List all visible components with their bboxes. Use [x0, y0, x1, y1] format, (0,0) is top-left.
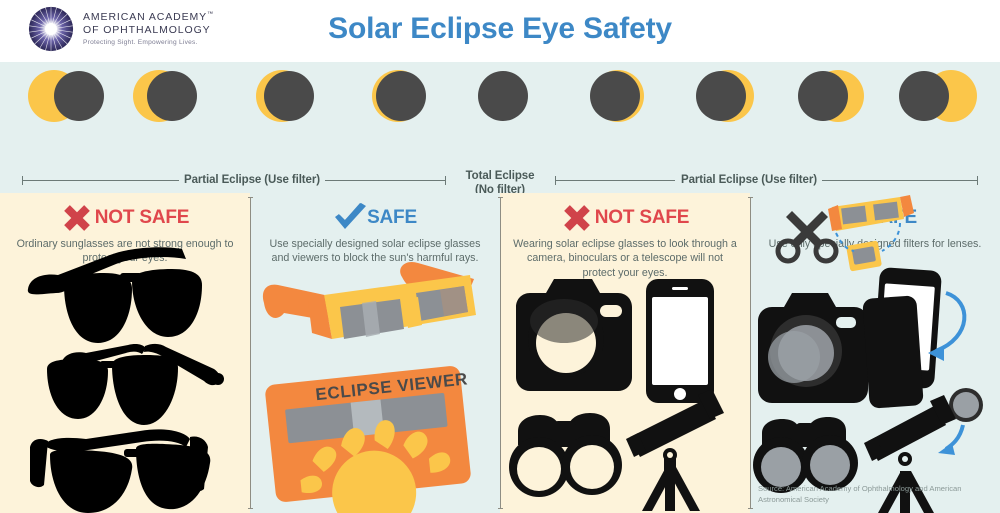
eclipse-phase-partial-8 [925, 70, 981, 126]
source-credit: Source: American Academy of Ophthalmolog… [758, 484, 988, 505]
aviator-sunglasses [47, 344, 224, 425]
filters-illustration [750, 193, 1000, 513]
moon-disc [478, 71, 528, 121]
moon-disc [696, 71, 746, 121]
scale-segment-left-b [325, 180, 445, 181]
camera-icon [516, 279, 632, 391]
eclipse-phase-partial-1 [28, 70, 84, 126]
scale-segment-right-a [555, 180, 675, 181]
binoculars-icon [753, 417, 858, 493]
eclipse-phase-band: Partial Eclipse (Use filter) Total Eclip… [0, 62, 1000, 193]
eclipse-glasses-illustration: ECLIPSE VIEWER [250, 193, 500, 513]
cateye-sunglasses [30, 429, 210, 513]
devices-illustration [500, 193, 750, 513]
camera-icon [758, 293, 868, 403]
moon-disc [264, 71, 314, 121]
filter-patch-icon [846, 240, 882, 271]
moon-disc [376, 71, 426, 121]
eclipse-phase-partial-5 [592, 70, 648, 126]
scissors-icon [778, 211, 836, 261]
eclipse-phase-row [0, 70, 1000, 132]
label-partial-eclipse-right: Partial Eclipse (Use filter) [676, 174, 822, 186]
page-header: AMERICAN ACADEMY™ OF OPHTHALMOLOGY Prote… [0, 0, 1000, 62]
panel-lens-filters: SAFE Use only specially designed filters… [750, 193, 1000, 513]
label-partial-eclipse-left: Partial Eclipse (Use filter) [179, 174, 325, 186]
moon-disc [54, 71, 104, 121]
moon-disc [590, 71, 640, 121]
eclipse-phase-partial-2 [133, 70, 189, 126]
arrow-to-phone-icon [936, 293, 964, 351]
eclipse-viewer-card: ECLIPSE VIEWER [264, 365, 483, 513]
safety-panels: NOT SAFE Ordinary sunglasses are not str… [0, 193, 1000, 513]
eclipse-glasses-icon [263, 262, 476, 339]
eclipse-glasses-small-icon [828, 195, 914, 231]
panel-divider-2 [500, 197, 501, 509]
wayfarer-sunglasses [28, 247, 202, 343]
arrow-to-telescope-icon [946, 425, 963, 449]
scale-cap-right [977, 176, 978, 185]
panel-divider-1 [250, 197, 251, 509]
smartphone-icon [862, 267, 942, 409]
eclipse-phase-partial-3 [256, 70, 312, 126]
total-eclipse-line-1: Total Eclipse [440, 169, 560, 183]
panel-eclipse-glasses: SAFE Use specially designed solar eclips… [250, 193, 500, 513]
moon-disc [147, 71, 197, 121]
page-title: Solar Eclipse Eye Safety [0, 12, 1000, 46]
panel-divider-3 [750, 197, 751, 509]
scale-segment-left-a [22, 180, 179, 181]
infographic-page: AMERICAN ACADEMY™ OF OPHTHALMOLOGY Prote… [0, 0, 1000, 513]
eclipse-phase-partial-4 [372, 70, 428, 126]
smartphone-icon [646, 279, 714, 403]
eclipse-phase-total [477, 70, 533, 126]
moon-disc [899, 71, 949, 121]
panel-ordinary-sunglasses: NOT SAFE Ordinary sunglasses are not str… [0, 193, 250, 513]
eclipse-phase-partial-7 [812, 70, 868, 126]
panel-devices-not-safe: NOT SAFE Wearing solar eclipse glasses t… [500, 193, 750, 513]
moon-disc [798, 71, 848, 121]
scale-segment-right-b [822, 180, 978, 181]
eclipse-phase-partial-6 [702, 70, 758, 126]
binoculars-icon [509, 413, 622, 497]
sunglasses-illustration [0, 193, 250, 513]
telescope-icon [626, 389, 724, 511]
